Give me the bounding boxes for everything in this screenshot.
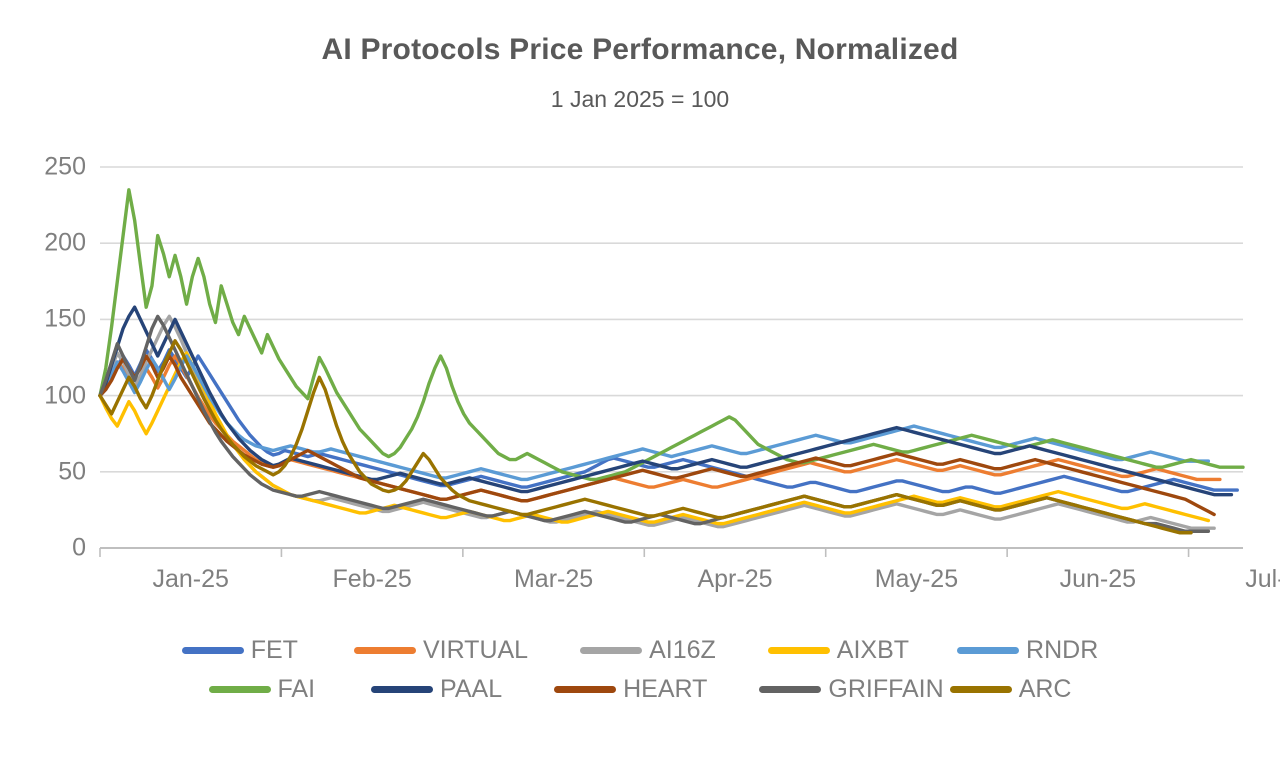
- legend-swatch-paal: [371, 686, 433, 693]
- legend-swatch-ai16z: [580, 647, 642, 654]
- legend-swatch-fet: [182, 647, 244, 654]
- legend-label: HEART: [623, 677, 707, 702]
- legend-item-heart[interactable]: HEART: [554, 677, 707, 702]
- legend-label: FAI: [278, 677, 316, 702]
- x-axis-tick-label: Jul-25: [1245, 565, 1280, 594]
- legend-item-ai16z[interactable]: AI16Z: [580, 638, 716, 663]
- legend-item-griffain[interactable]: GRIFFAIN: [759, 677, 943, 702]
- legend-item-fai[interactable]: FAI: [209, 677, 316, 702]
- legend-label: GRIFFAIN: [828, 677, 943, 702]
- x-axis-tick-label: Mar-25: [514, 565, 593, 594]
- legend-swatch-arc: [950, 686, 1012, 693]
- legend-label: AIXBT: [837, 638, 909, 663]
- legend-swatch-rndr: [957, 647, 1019, 654]
- x-axis-tick-label: Apr-25: [697, 565, 772, 594]
- legend-label: AI16Z: [649, 638, 716, 663]
- legend-label: ARC: [1019, 677, 1072, 702]
- chart-container: AI Protocols Price Performance, Normaliz…: [0, 0, 1280, 768]
- legend-item-fet[interactable]: FET: [182, 638, 298, 663]
- legend-item-arc[interactable]: ARC: [950, 677, 1072, 702]
- legend-label: FET: [251, 638, 298, 663]
- legend-swatch-heart: [554, 686, 616, 693]
- legend-swatch-virtual: [354, 647, 416, 654]
- legend-swatch-fai: [209, 686, 271, 693]
- legend-label: PAAL: [440, 677, 502, 702]
- legend-item-paal[interactable]: PAAL: [371, 677, 502, 702]
- chart-legend: FETVIRTUALAI16ZAIXBTRNDR FAIPAALHEARTGRI…: [0, 638, 1280, 702]
- legend-item-virtual[interactable]: VIRTUAL: [354, 638, 528, 663]
- legend-label: RNDR: [1026, 638, 1098, 663]
- legend-label: VIRTUAL: [423, 638, 528, 663]
- legend-item-aixbt[interactable]: AIXBT: [768, 638, 909, 663]
- x-axis-tick-label: Feb-25: [333, 565, 412, 594]
- legend-item-rndr[interactable]: RNDR: [957, 638, 1098, 663]
- x-axis-tick-label: Jun-25: [1060, 565, 1136, 594]
- x-axis-tick-label: Jan-25: [152, 565, 228, 594]
- legend-swatch-aixbt: [768, 647, 830, 654]
- legend-swatch-griffain: [759, 686, 821, 693]
- legend-row-1: FETVIRTUALAI16ZAIXBTRNDR: [182, 638, 1099, 663]
- legend-row-2: FAIPAALHEARTGRIFFAINARC: [209, 677, 1072, 702]
- x-axis-tick-label: May-25: [875, 565, 958, 594]
